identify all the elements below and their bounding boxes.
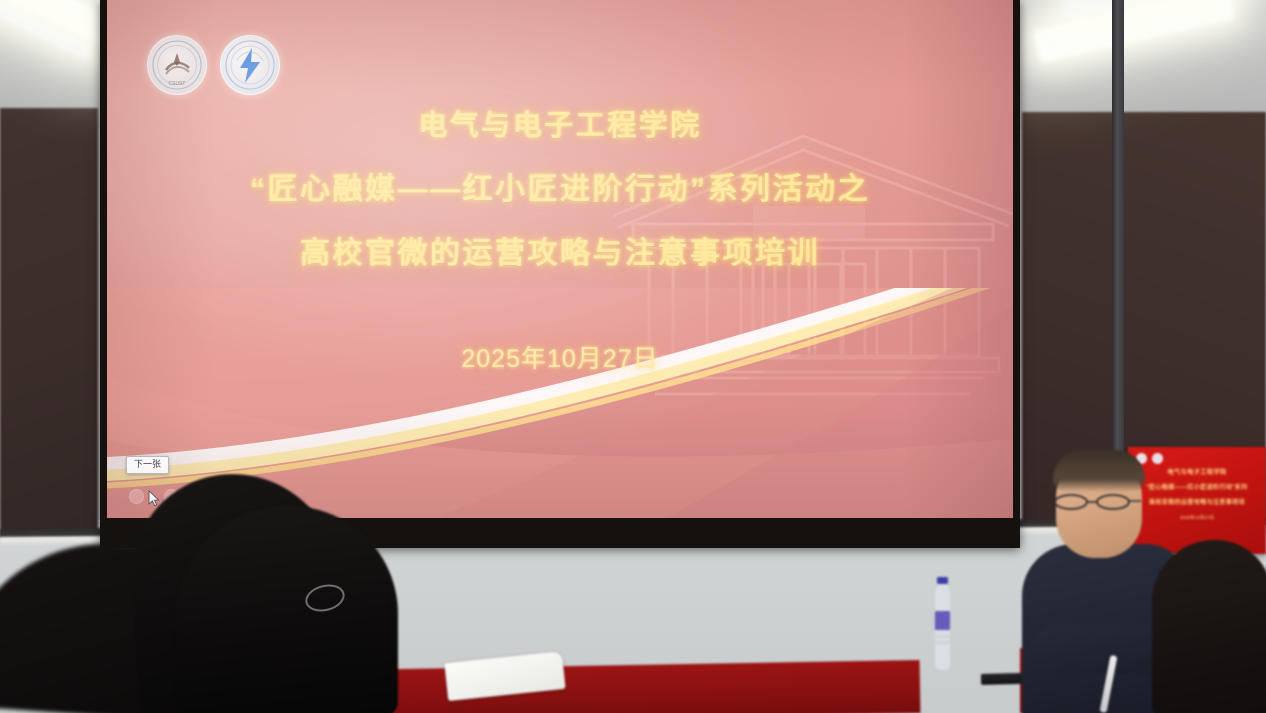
audience-member-4 — [1152, 540, 1266, 713]
slide-text-block: 电气与电子工程学院 “匠心融媒——红小匠进阶行动”系列活动之 高校官微的运营攻略… — [107, 0, 1013, 518]
presenter-glasses-icon — [1051, 494, 1143, 510]
water-bottle — [929, 577, 956, 673]
mouse-cursor-icon — [148, 490, 160, 507]
lecture-room-scene: CSUST 电气与电子工程学院 “匠心融媒——红小匠进阶行动”系列活动之 高校官… — [0, 0, 1266, 713]
blackboard-panel-left — [0, 108, 98, 538]
projection-screen-frame: CSUST 电气与电子工程学院 “匠心融媒——红小匠进阶行动”系列活动之 高校官… — [100, 0, 1020, 548]
slide-date: 2025年10月27日 — [461, 339, 658, 375]
slide-organization-line: 电气与电子工程学院 — [418, 112, 702, 141]
next-slide-tooltip: 下一张 — [126, 456, 169, 474]
previous-slide-button[interactable] — [129, 489, 144, 504]
projected-slide[interactable]: CSUST 电气与电子工程学院 “匠心融媒——红小匠进阶行动”系列活动之 高校官… — [107, 0, 1013, 518]
audience-member-3 — [176, 506, 398, 713]
table-front-left — [360, 660, 921, 713]
slide-series-line: “匠心融媒——红小匠进阶行动”系列活动之 — [250, 175, 870, 205]
presenter-hair — [1053, 450, 1145, 492]
slide-topic-line: 高校官微的运营攻略与注意事项培训 — [300, 239, 820, 269]
